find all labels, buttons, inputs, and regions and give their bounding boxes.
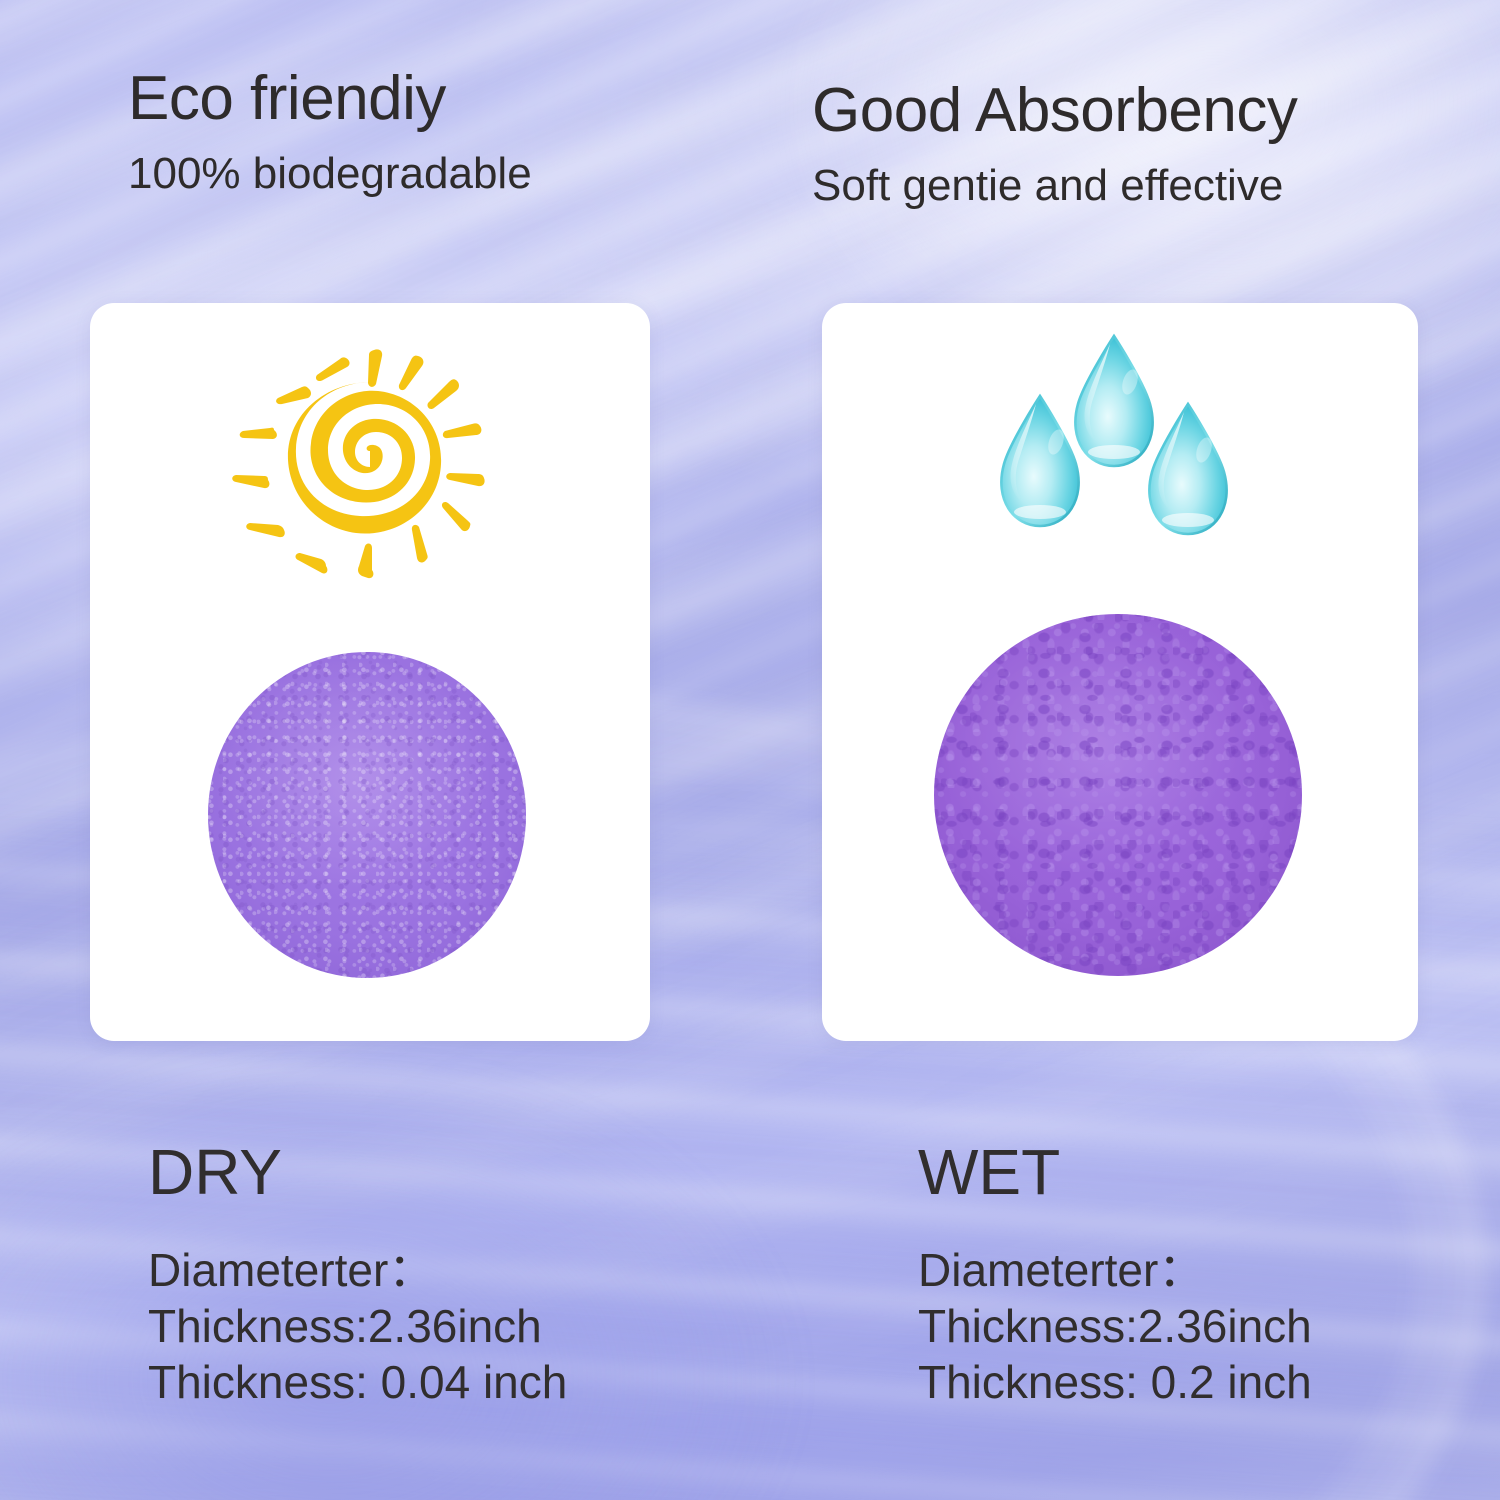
wet-spec-thickness-2: Thickness: 0.2 inch (918, 1354, 1312, 1410)
eco-heading-subtitle: 100% biodegradable (128, 152, 532, 196)
wet-sponge-surface (934, 614, 1302, 976)
wet-sponge-pores (934, 614, 1302, 976)
wet-spec-thickness-1: Thickness:2.36inch (918, 1298, 1312, 1354)
dry-sponge-pores (208, 652, 526, 978)
dry-spec-thickness-1: Thickness:2.36inch (148, 1298, 567, 1354)
dry-sponge-surface (208, 652, 526, 978)
wet-spec-block: WET Diameterter： Thickness:2.36inch Thic… (918, 1140, 1312, 1410)
infographic-canvas: Eco friendiy 100% biodegradable Good Abs… (0, 0, 1500, 1500)
sun-icon (222, 338, 512, 606)
absorbency-heading-subtitle: Soft gentie and effective (812, 164, 1297, 208)
dry-spec-thickness-2: Thickness: 0.04 inch (148, 1354, 567, 1410)
absorbency-heading-block: Good Absorbency Soft gentie and effectiv… (812, 80, 1297, 208)
wet-state-label: WET (918, 1140, 1312, 1204)
dry-spec-block: DRY Diameterter： Thickness:2.36inch Thic… (148, 1140, 567, 1410)
wet-sponge (934, 614, 1302, 976)
wet-spec-lines: Diameterter： Thickness:2.36inch Thicknes… (918, 1242, 1312, 1410)
eco-heading-block: Eco friendiy 100% biodegradable (128, 68, 532, 196)
dry-sponge (208, 652, 526, 978)
dry-state-label: DRY (148, 1140, 567, 1204)
dry-spec-diameter: Diameterter： (148, 1242, 567, 1298)
wet-spec-diameter: Diameterter： (918, 1242, 1312, 1298)
eco-heading-title: Eco friendiy (128, 68, 532, 130)
water-drop-icon (990, 332, 1258, 564)
dry-spec-lines: Diameterter： Thickness:2.36inch Thicknes… (148, 1242, 567, 1410)
absorbency-heading-title: Good Absorbency (812, 80, 1297, 142)
